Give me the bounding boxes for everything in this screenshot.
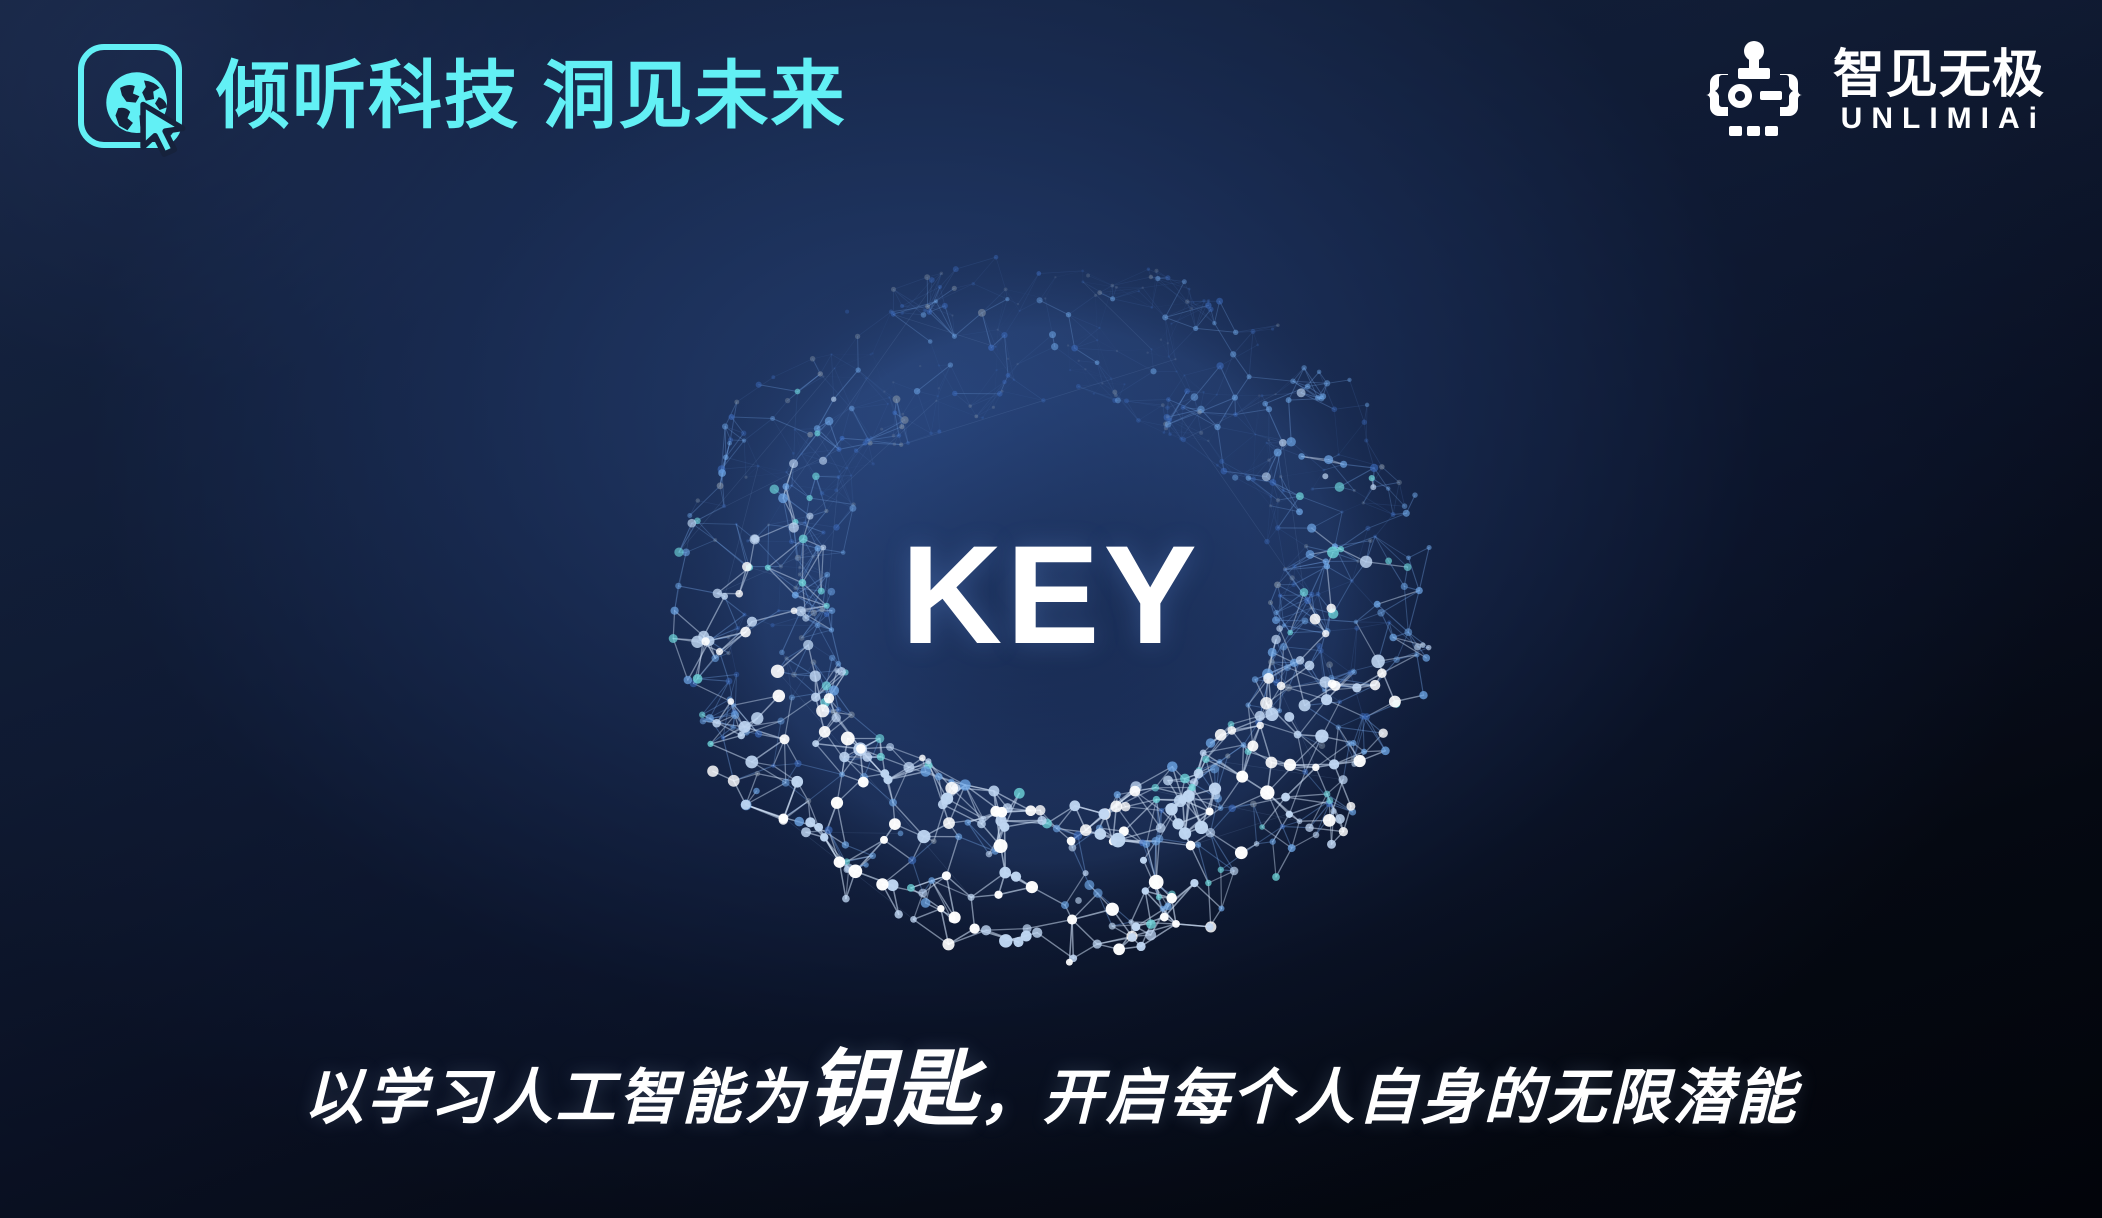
- right-brand-text: 智见无极 UNLIMIAi: [1832, 48, 2046, 135]
- slide-canvas: 倾听科技 洞见未来: [0, 0, 2102, 1218]
- globe-cursor-icon: [98, 64, 190, 156]
- robot-head-icon: [1698, 38, 1810, 144]
- brand-title: 倾听科技 洞见未来: [216, 59, 847, 133]
- center-word: KEY: [561, 525, 1541, 665]
- slide-caption: 以学习人工智能为钥匙，开启每个人自身的无限潜能: [0, 1022, 2102, 1143]
- right-brand-name-en: UNLIMIAi: [1832, 104, 2046, 134]
- right-brand-name-cn: 智见无极: [1833, 48, 2045, 103]
- logo-frame: [78, 44, 182, 148]
- left-brand-lockup: 倾听科技 洞见未来: [78, 44, 847, 148]
- network-ring-graphic: KEY: [561, 155, 1541, 1035]
- caption-part1: 以学习人工智能为: [303, 1065, 807, 1131]
- right-brand-lockup: 智见无极 UNLIMIAi: [1698, 38, 2046, 144]
- caption-part2: ，开启每个人自身的无限潜能: [980, 1065, 1799, 1131]
- caption-emphasis: 钥匙: [807, 1044, 979, 1137]
